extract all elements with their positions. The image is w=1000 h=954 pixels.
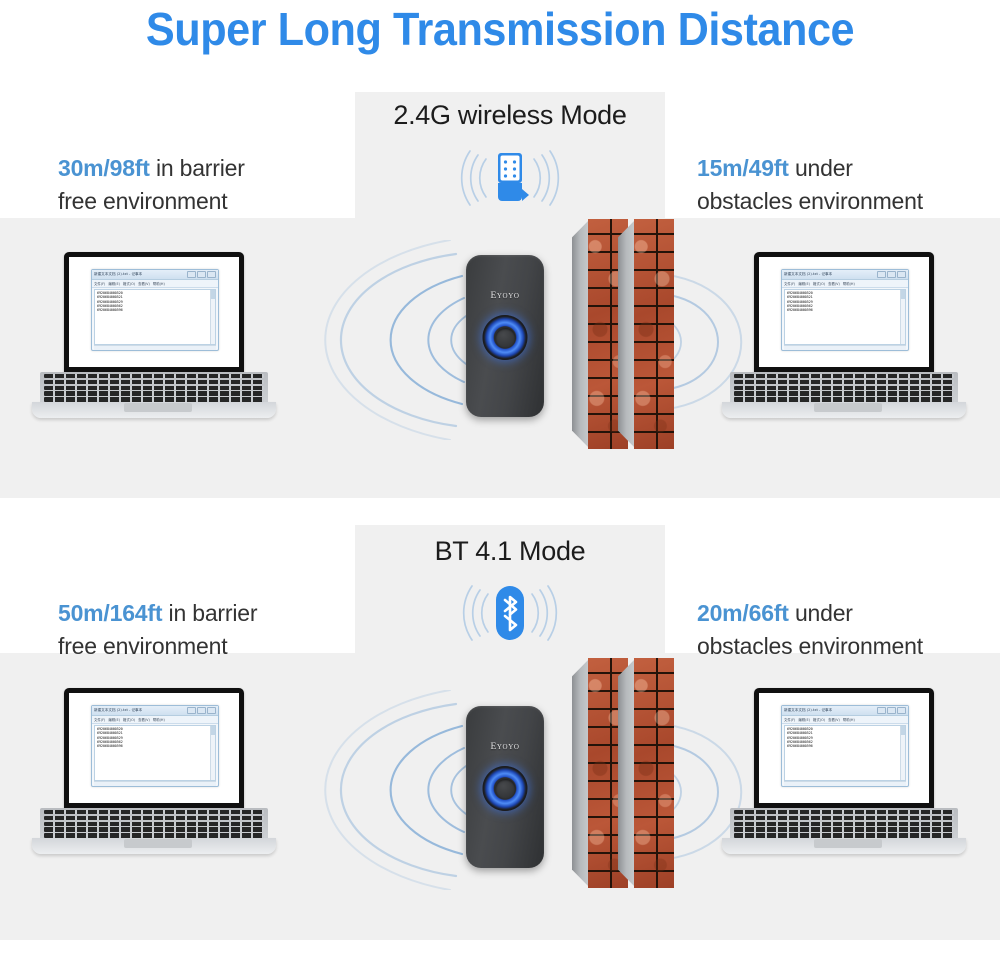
- menu-item-view[interactable]: 查看(V): [828, 281, 840, 286]
- close-icon[interactable]: [897, 271, 906, 278]
- menu-item-help[interactable]: 帮助(H): [153, 717, 165, 722]
- menu-item-format[interactable]: 格式(O): [123, 281, 135, 286]
- window-controls[interactable]: [877, 707, 906, 714]
- laptop-trackpad: [124, 839, 192, 848]
- notepad-statusbar: [784, 781, 906, 786]
- window-controls[interactable]: [187, 707, 216, 714]
- vertical-scrollbar[interactable]: [900, 290, 905, 344]
- laptop-base: [718, 808, 970, 858]
- vertical-scrollbar[interactable]: [210, 290, 215, 344]
- barcode-line: 6920684000596: [97, 308, 213, 312]
- menu-item-format[interactable]: 格式(O): [123, 717, 135, 722]
- close-icon[interactable]: [897, 707, 906, 714]
- distance-value-bt41-right: 20m/66ft: [697, 600, 789, 626]
- barcode-line: 6920684000596: [787, 308, 903, 312]
- laptop-bt41-left: 新建文本文档 (2).txt - 记事本 文件(F) 编辑(E) 格式(O) 查…: [28, 688, 280, 866]
- vertical-scrollbar[interactable]: [210, 726, 215, 780]
- maximize-icon[interactable]: [197, 271, 206, 278]
- brick-column: [634, 658, 674, 888]
- menu-item-file[interactable]: 文件(F): [784, 281, 795, 286]
- barcode-scanner-24g: Eyoyo: [466, 255, 544, 417]
- minimize-icon[interactable]: [187, 271, 196, 278]
- maximize-icon[interactable]: [197, 707, 206, 714]
- minimize-icon[interactable]: [877, 271, 886, 278]
- notepad-statusbar: [784, 345, 906, 350]
- menu-item-view[interactable]: 查看(V): [138, 281, 150, 286]
- notepad-menubar[interactable]: 文件(F) 编辑(E) 格式(O) 查看(V) 帮助(H): [92, 280, 218, 288]
- notepad-textarea[interactable]: 6920684000520 6920684000521 692068400052…: [784, 289, 906, 345]
- menu-item-view[interactable]: 查看(V): [828, 717, 840, 722]
- menu-item-view[interactable]: 查看(V): [138, 717, 150, 722]
- laptop-screen: 新建文本文档 (2).txt - 记事本 文件(F) 编辑(E) 格式(O) 查…: [69, 693, 239, 803]
- barcode-list: 6920684000520 6920684000521 692068400052…: [95, 290, 215, 313]
- window-controls[interactable]: [877, 271, 906, 278]
- notepad-textarea[interactable]: 6920684000520 6920684000521 692068400052…: [94, 725, 216, 781]
- distance-text-24g-left-2: free environment: [58, 188, 227, 214]
- notepad-titlebar: 新建文本文档 (2).txt - 记事本: [92, 706, 218, 716]
- scanner-brand-label: Eyoyo: [466, 742, 544, 752]
- menu-item-help[interactable]: 帮助(H): [843, 717, 855, 722]
- notepad-statusbar: [94, 781, 216, 786]
- scrollbar-thumb[interactable]: [901, 726, 905, 735]
- menu-item-edit[interactable]: 编辑(E): [798, 281, 810, 286]
- menu-item-edit[interactable]: 编辑(E): [108, 281, 120, 286]
- notepad-titlebar: 新建文本文档 (2).txt - 记事本: [92, 270, 218, 280]
- barcode-list: 6920684000520 6920684000521 692068400052…: [785, 726, 905, 749]
- vertical-scrollbar[interactable]: [900, 726, 905, 780]
- scrollbar-thumb[interactable]: [211, 726, 215, 735]
- laptop-24g-left: 新建文本文档 (2).txt - 记事本 文件(F) 编辑(E) 格式(O) 查…: [28, 252, 280, 430]
- laptop-lid: 新建文本文档 (2).txt - 记事本 文件(F) 编辑(E) 格式(O) 查…: [64, 688, 244, 810]
- notepad-window[interactable]: 新建文本文档 (2).txt - 记事本 文件(F) 编辑(E) 格式(O) 查…: [91, 269, 219, 351]
- notepad-window[interactable]: 新建文本文档 (2).txt - 记事本 文件(F) 编辑(E) 格式(O) 查…: [781, 705, 909, 787]
- notepad-menubar[interactable]: 文件(F) 编辑(E) 格式(O) 查看(V) 帮助(H): [92, 716, 218, 724]
- laptop-lid: 新建文本文档 (2).txt - 记事本 文件(F) 编辑(E) 格式(O) 查…: [754, 688, 934, 810]
- notepad-titlebar: 新建文本文档 (2).txt - 记事本: [782, 706, 908, 716]
- laptop-lid: 新建文本文档 (2).txt - 记事本 文件(F) 编辑(E) 格式(O) 查…: [64, 252, 244, 374]
- laptop-deck: [32, 402, 276, 418]
- barcode-scanner-bt41: Eyoyo: [466, 706, 544, 868]
- distance-text-24g-right-2: obstacles environment: [697, 188, 923, 214]
- mode-title-24g: 2.4G wireless Mode: [355, 100, 665, 131]
- menu-item-edit[interactable]: 编辑(E): [798, 717, 810, 722]
- laptop-trackpad: [814, 839, 882, 848]
- menu-item-format[interactable]: 格式(O): [813, 281, 825, 286]
- distance-text-24g-right-1: under: [795, 155, 853, 181]
- notepad-title-text: 新建文本文档 (2).txt - 记事本: [784, 708, 832, 713]
- laptop-trackpad: [814, 403, 882, 412]
- barcode-list: 6920684000520 6920684000521 692068400052…: [95, 726, 215, 749]
- laptop-keyboard: [730, 808, 958, 838]
- notepad-textarea[interactable]: 6920684000520 6920684000521 692068400052…: [784, 725, 906, 781]
- laptop-trackpad: [124, 403, 192, 412]
- laptop-screen: 新建文本文档 (2).txt - 记事本 文件(F) 编辑(E) 格式(O) 查…: [759, 693, 929, 803]
- distance-text-bt41-left-2: free environment: [58, 633, 227, 659]
- notepad-window[interactable]: 新建文本文档 (2).txt - 记事本 文件(F) 编辑(E) 格式(O) 查…: [781, 269, 909, 351]
- notepad-titlebar: 新建文本文档 (2).txt - 记事本: [782, 270, 908, 280]
- distance-text-24g-left-1: in barrier: [156, 155, 245, 181]
- distance-value-24g-right: 15m/49ft: [697, 155, 789, 181]
- scanner-button[interactable]: [495, 328, 515, 348]
- barcode-line: 6920684000596: [97, 744, 213, 748]
- notepad-menubar[interactable]: 文件(F) 编辑(E) 格式(O) 查看(V) 帮助(H): [782, 280, 908, 288]
- laptop-keyboard: [40, 372, 268, 402]
- notepad-title-text: 新建文本文档 (2).txt - 记事本: [94, 708, 142, 713]
- laptop-24g-right: 新建文本文档 (2).txt - 记事本 文件(F) 编辑(E) 格式(O) 查…: [718, 252, 970, 430]
- close-icon[interactable]: [207, 707, 216, 714]
- notepad-textarea[interactable]: 6920684000520 6920684000521 692068400052…: [94, 289, 216, 345]
- notepad-menubar[interactable]: 文件(F) 编辑(E) 格式(O) 查看(V) 帮助(H): [782, 716, 908, 724]
- menu-item-help[interactable]: 帮助(H): [153, 281, 165, 286]
- laptop-base: [718, 372, 970, 422]
- laptop-bt41-right: 新建文本文档 (2).txt - 记事本 文件(F) 编辑(E) 格式(O) 查…: [718, 688, 970, 866]
- laptop-deck: [32, 838, 276, 854]
- menu-item-format[interactable]: 格式(O): [813, 717, 825, 722]
- distance-caption-24g-right: 15m/49ft under obstacles environment: [697, 152, 997, 218]
- scanner-brand-label: Eyoyo: [466, 291, 544, 301]
- minimize-icon[interactable]: [187, 707, 196, 714]
- scanner-led-ring-icon: [483, 315, 528, 360]
- distance-text-bt41-left-1: in barrier: [169, 600, 258, 626]
- distance-caption-24g-left: 30m/98ft in barrier free environment: [58, 152, 348, 218]
- menu-item-file[interactable]: 文件(F): [784, 717, 795, 722]
- notepad-title-text: 新建文本文档 (2).txt - 记事本: [94, 272, 142, 277]
- maximize-icon[interactable]: [887, 707, 896, 714]
- distance-caption-bt41-right: 20m/66ft under obstacles environment: [697, 597, 997, 663]
- menu-item-edit[interactable]: 编辑(E): [108, 717, 120, 722]
- laptop-base: [28, 372, 280, 422]
- bluetooth-icon: [430, 578, 590, 648]
- brick-wall-obstacle-24g: [572, 219, 668, 449]
- laptop-keyboard: [40, 808, 268, 838]
- window-controls[interactable]: [187, 271, 216, 278]
- laptop-screen: 新建文本文档 (2).txt - 记事本 文件(F) 编辑(E) 格式(O) 查…: [759, 257, 929, 367]
- distance-text-bt41-right-2: obstacles environment: [697, 633, 923, 659]
- laptop-deck: [722, 838, 966, 854]
- menu-item-file[interactable]: 文件(F): [94, 281, 105, 286]
- notepad-title-text: 新建文本文档 (2).txt - 记事本: [784, 272, 832, 277]
- brick-column: [634, 219, 674, 449]
- scanner-led-ring-icon: [483, 766, 528, 811]
- laptop-deck: [722, 402, 966, 418]
- distance-value-bt41-left: 50m/164ft: [58, 600, 162, 626]
- brick-wall-obstacle-bt41: [572, 658, 668, 888]
- menu-item-file[interactable]: 文件(F): [94, 717, 105, 722]
- notepad-window[interactable]: 新建文本文档 (2).txt - 记事本 文件(F) 编辑(E) 格式(O) 查…: [91, 705, 219, 787]
- mode-title-bt41: BT 4.1 Mode: [355, 536, 665, 567]
- page-title: Super Long Transmission Distance: [30, 2, 970, 56]
- barcode-list: 6920684000520 6920684000521 692068400052…: [785, 290, 905, 313]
- notepad-statusbar: [94, 345, 216, 350]
- laptop-lid: 新建文本文档 (2).txt - 记事本 文件(F) 编辑(E) 格式(O) 查…: [754, 252, 934, 374]
- laptop-keyboard: [730, 372, 958, 402]
- minimize-icon[interactable]: [877, 707, 886, 714]
- distance-text-bt41-right-1: under: [795, 600, 853, 626]
- laptop-base: [28, 808, 280, 858]
- scrollbar-thumb[interactable]: [211, 290, 215, 299]
- close-icon[interactable]: [207, 271, 216, 278]
- menu-item-help[interactable]: 帮助(H): [843, 281, 855, 286]
- scrollbar-thumb[interactable]: [901, 290, 905, 299]
- barcode-line: 6920684000596: [787, 744, 903, 748]
- maximize-icon[interactable]: [887, 271, 896, 278]
- laptop-screen: 新建文本文档 (2).txt - 记事本 文件(F) 编辑(E) 格式(O) 查…: [69, 257, 239, 367]
- scanner-button[interactable]: [495, 779, 515, 799]
- distance-caption-bt41-left: 50m/164ft in barrier free environment: [58, 597, 348, 663]
- infographic-canvas: Super Long Transmission Distance 2.4G wi…: [0, 0, 1000, 954]
- distance-value-24g-left: 30m/98ft: [58, 155, 150, 181]
- usb-dongle-icon: [430, 143, 590, 213]
